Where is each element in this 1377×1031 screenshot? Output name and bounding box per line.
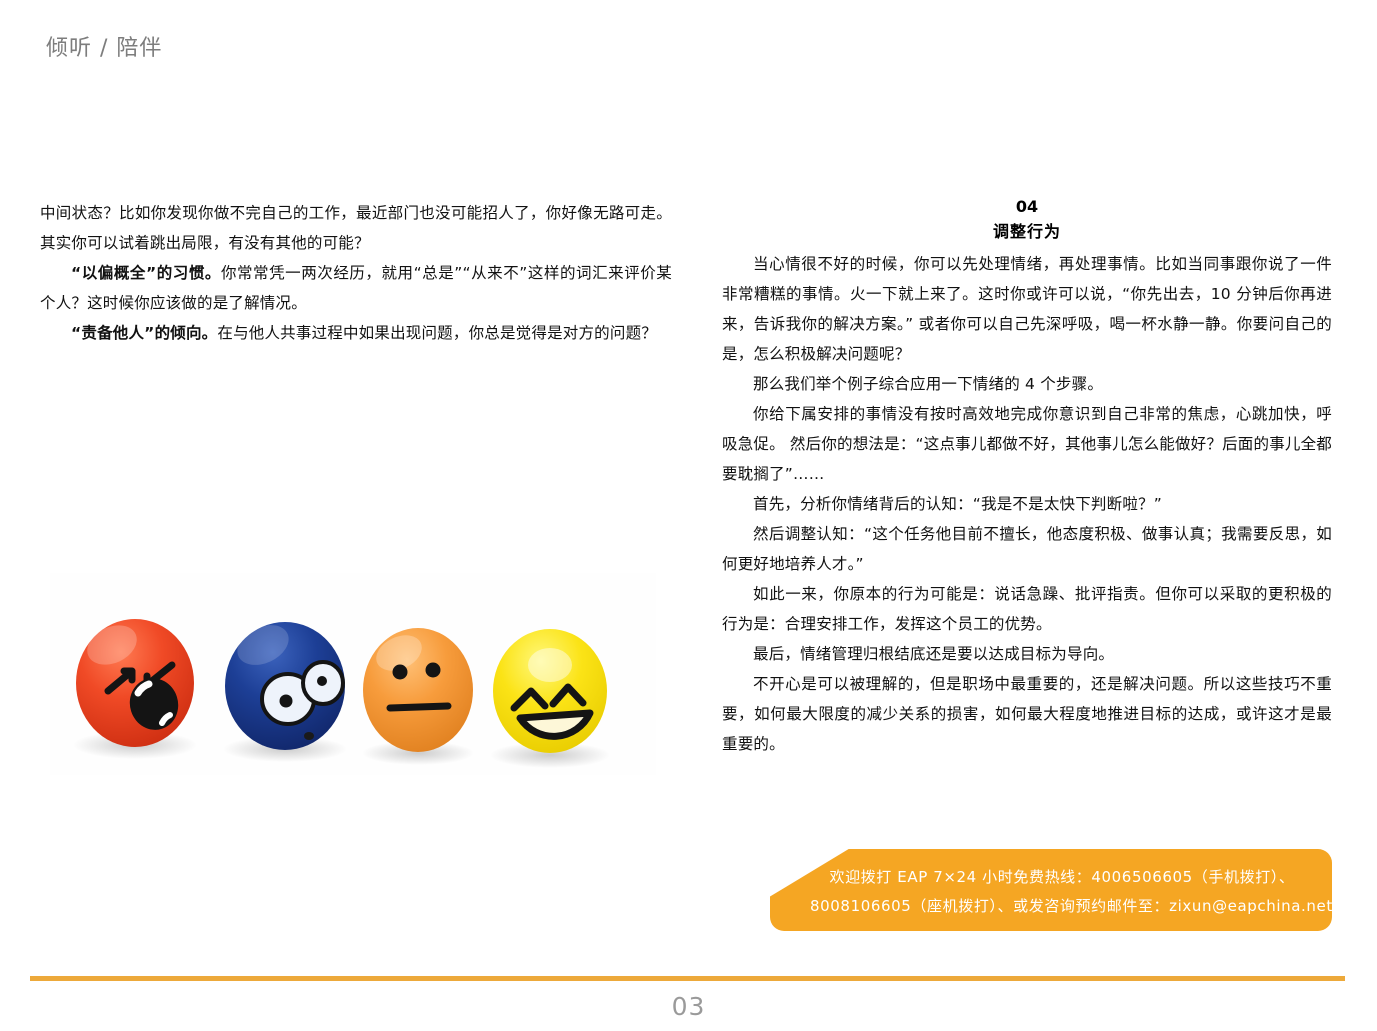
section-number: 04 <box>722 195 1332 219</box>
right-paragraph-7: 最后，情绪管理归根结底还是要以达成目标为导向。 <box>722 639 1332 669</box>
left-text-column: 中间状态？比如你发现你做不完自己的工作，最近部门也没可能招人了，你好像无路可走。… <box>40 198 672 348</box>
neutral-orange-ball <box>363 628 473 752</box>
left-paragraph-2: “以偏概全”的习惯。你常常凭一两次经历，就用“总是”“从来不”这样的词汇来评价某… <box>40 258 672 318</box>
document-page: 倾听 / 陪伴 中间状态？比如你发现你做不完自己的工作，最近部门也没可能招人了，… <box>0 0 1377 1031</box>
left-paragraph-3: “责备他人”的倾向。在与他人共事过程中如果出现问题，你总是觉得是对方的问题？ <box>40 318 672 348</box>
left-paragraph-2-lead: “以偏概全”的习惯。 <box>71 264 221 282</box>
right-paragraph-5: 然后调整认知：“这个任务他目前不擅长，他态度积极、做事认真；我需要反思，如何更好… <box>722 519 1332 579</box>
stress-balls-illustration <box>50 573 656 775</box>
right-paragraph-6: 如此一来，你原本的行为可能是：说话急躁、批评指责。但你可以采取的更积极的行为是：… <box>722 579 1332 639</box>
right-paragraph-1: 当心情很不好的时候，你可以先处理情绪，再处理事情。比如当同事跟你说了一件非常糟糕… <box>722 249 1332 369</box>
left-paragraph-3-lead: “责备他人”的倾向。 <box>71 324 217 342</box>
emotion-stress-balls-photo <box>50 573 656 775</box>
right-paragraph-2: 那么我们举个例子综合应用一下情绪的 4 个步骤。 <box>722 369 1332 399</box>
right-paragraph-3: 你给下属安排的事情没有按时高效地完成你意识到自己非常的焦虑，心跳加快，呼吸急促。… <box>722 399 1332 489</box>
right-paragraph-4: 首先，分析你情绪背后的认知：“我是不是太快下判断啦？” <box>722 489 1332 519</box>
callout-text: 欢迎拨打 EAP 7×24 小时免费热线：4006506605（手机拨打）、 8… <box>810 863 1314 921</box>
page-header-breadcrumb: 倾听 / 陪伴 <box>46 30 162 62</box>
page-number: 03 <box>0 992 1377 1021</box>
right-text-column: 04 调整行为 当心情很不好的时候，你可以先处理情绪，再处理事情。比如当同事跟你… <box>722 195 1332 759</box>
callout-line-1: 欢迎拨打 EAP 7×24 小时免费热线：4006506605（手机拨打）、 <box>810 863 1314 892</box>
laughing-yellow-ball <box>493 629 607 753</box>
callout-line-2: 8008106605（座机拨打）、或发咨询预约邮件至：zixun@eapchin… <box>810 892 1314 921</box>
left-paragraph-1: 中间状态？比如你发现你做不完自己的工作，最近部门也没可能招人了，你好像无路可走。… <box>40 198 672 258</box>
section-title: 调整行为 <box>722 219 1332 245</box>
hotline-callout: 欢迎拨打 EAP 7×24 小时免费热线：4006506605（手机拨打）、 8… <box>770 849 1332 931</box>
left-paragraph-3-body: 在与他人共事过程中如果出现问题，你总是觉得是对方的问题？ <box>217 324 657 342</box>
footer-divider-rule <box>30 976 1345 981</box>
right-paragraph-8: 不开心是可以被理解的，但是职场中最重要的，还是解决问题。所以这些技巧不重要，如何… <box>722 669 1332 759</box>
